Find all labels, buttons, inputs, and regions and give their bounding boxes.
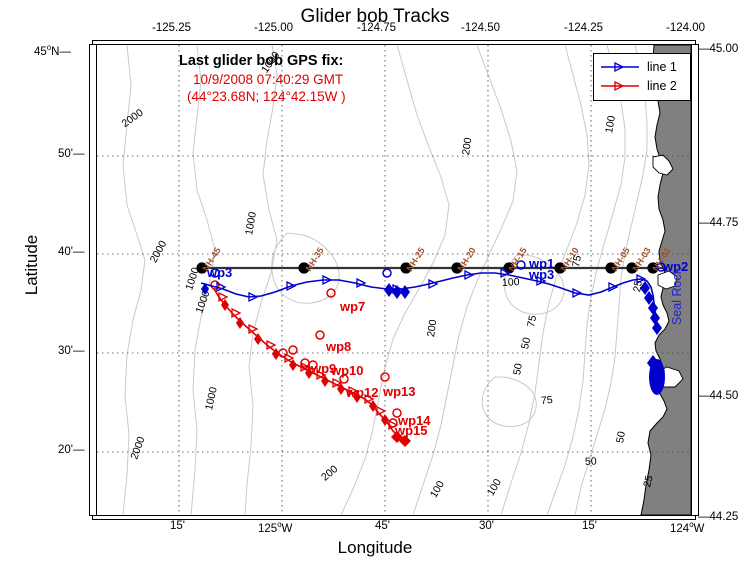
waypoint-label-wp12: wp12 (346, 385, 379, 400)
contour-label-100-12: 100 (502, 276, 520, 289)
top-tick-1: -125.00 (254, 22, 293, 34)
contour-label-200-8: 200 (460, 137, 474, 156)
waypoint-label-wp13: wp13 (383, 384, 416, 399)
map-plot-area[interactable]: NH-45NH-35NH-25NH-20NH-15NH-10NH-05NH-03… (96, 44, 692, 516)
waypoint-label-wp15: wp15 (395, 423, 428, 438)
gps-fix-timestamp: 10/9/2008 07:40:29 GMT (193, 72, 346, 87)
waypoint-label-wp3: wp3 (529, 267, 554, 282)
waypoint-label-wp7: wp7 (340, 299, 365, 314)
waypoint-label-wp3: wp3 (207, 265, 232, 280)
gps-fix-headline: Last glider bob GPS fix: (179, 53, 346, 69)
x-axis-label: Longitude (0, 538, 750, 558)
bottom-tick-0: 15' (170, 520, 185, 532)
left-tick-1: 50'— (58, 148, 85, 160)
contour-label-50-19: 50 (614, 430, 628, 444)
track-line-1-markers (217, 269, 645, 301)
legend-swatch-line-1 (599, 60, 641, 74)
contour-label-50-20: 50 (585, 455, 597, 468)
seal-rock-label: Seal Rock (670, 268, 684, 325)
bottom-tick-1: 125oW (258, 520, 292, 535)
waypoint-label-wp8: wp8 (326, 339, 351, 354)
contour-label-50-17: 50 (519, 336, 533, 350)
top-tick-2: -124.75 (357, 22, 396, 34)
legend-item-line-2[interactable]: line 2 (594, 76, 690, 95)
top-tick-4: -124.25 (564, 22, 603, 34)
left-tick-2: 40'— (58, 246, 85, 258)
bottom-tick-2: 45' (375, 520, 390, 532)
contour-label-75-14: 75 (570, 254, 584, 268)
gps-fix-annotation: Last glider bob GPS fix: 10/9/2008 07:40… (179, 53, 346, 104)
legend-label-line-1: line 1 (647, 60, 677, 74)
left-tick-4: 20'— (58, 444, 85, 456)
legend-item-line-1[interactable]: line 1 (594, 57, 690, 76)
right-tick-0: —45.00 (698, 43, 738, 55)
top-tick-5: -124.00 (666, 22, 705, 34)
left-tick-0: 45oN— (34, 43, 71, 58)
right-tick-1: —44.75 (698, 217, 738, 229)
top-tick-0: -125.25 (152, 22, 191, 34)
gps-fix-position: (44°23.68N; 124°42.15W ) (187, 89, 346, 104)
right-tick-3: —44.25 (698, 511, 738, 523)
left-tick-3: 30'— (58, 345, 85, 357)
legend-label-line-2: line 2 (647, 79, 677, 93)
contour-label-50-18: 50 (511, 362, 525, 376)
legend-swatch-line-2 (599, 79, 641, 93)
waypoint-label-wp10: wp10 (331, 363, 364, 378)
contour-label-75-15: 75 (525, 314, 539, 328)
contour-label-25-21: 25 (631, 279, 645, 293)
top-tick-3: -124.50 (461, 22, 500, 34)
legend[interactable]: line 1 line 2 (593, 53, 691, 101)
contour-label-200-9: 200 (425, 319, 439, 338)
right-tick-2: —44.50 (698, 390, 738, 402)
y-axis-label: Latitude (22, 205, 42, 325)
bottom-tick-4: 15' (582, 520, 597, 532)
bottom-tick-3: 30' (479, 520, 494, 532)
contour-label-75-16: 75 (540, 394, 553, 407)
